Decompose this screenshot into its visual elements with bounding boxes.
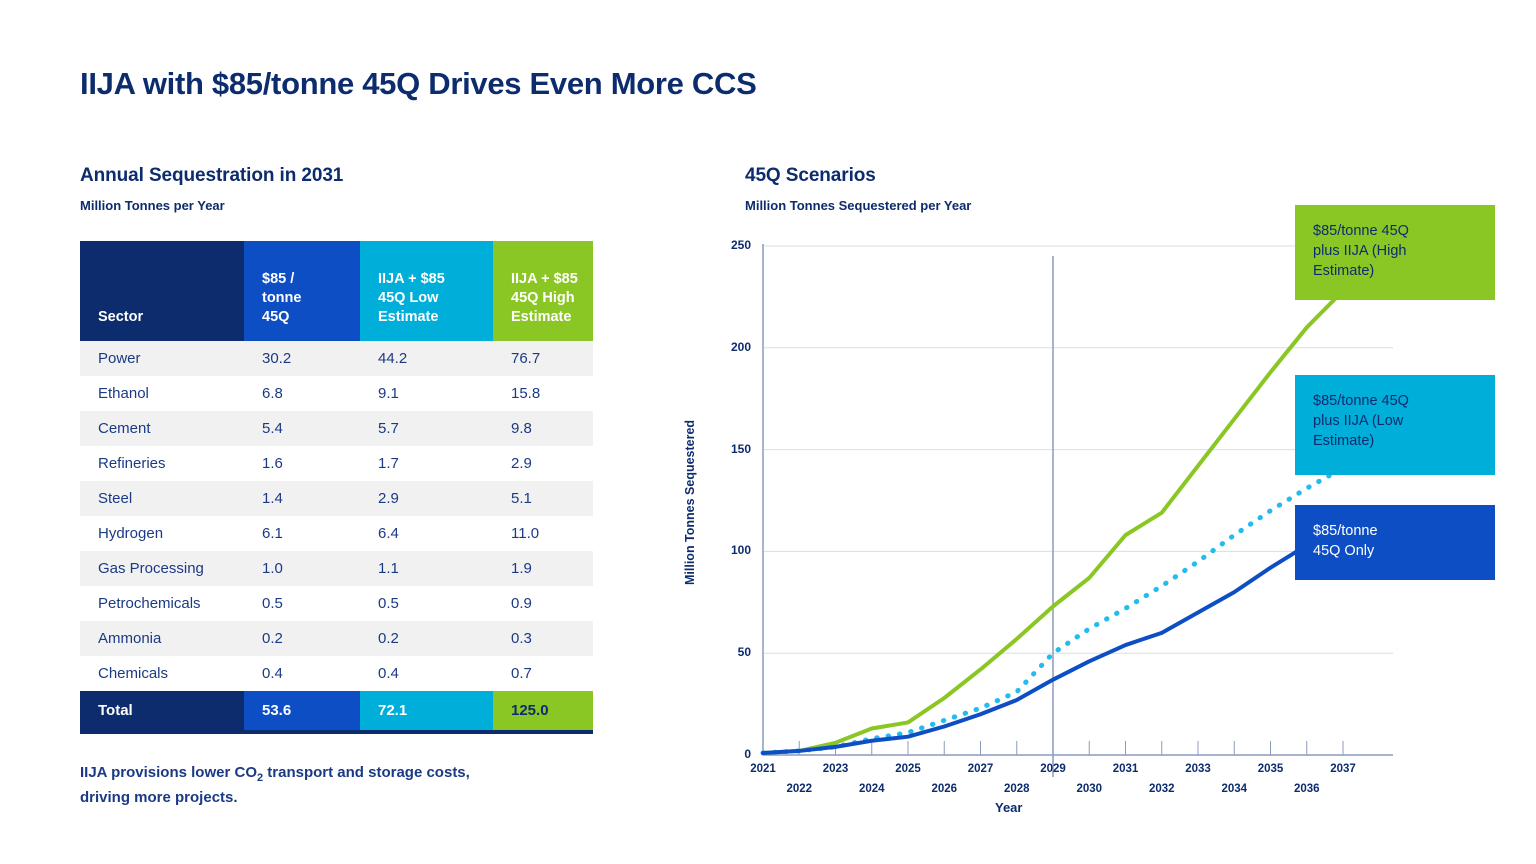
header-line: tonne	[262, 290, 301, 306]
header-line: 45Q	[262, 309, 289, 325]
x-tick-label: 2032	[1149, 783, 1175, 795]
table-row: Steel1.42.95.1	[80, 481, 593, 516]
cell-value: 0.9	[493, 586, 593, 621]
infographic-page: IIJA with $85/tonne 45Q Drives Even More…	[0, 0, 1536, 864]
cell-value: 0.4	[244, 656, 360, 691]
footnote-line-1: IIJA provisions lower CO2 transport and …	[80, 764, 470, 781]
y-tick-label: 100	[709, 543, 751, 557]
cell-sector: Gas Processing	[80, 551, 244, 586]
cell-sector: Petrochemicals	[80, 586, 244, 621]
cell-value: 0.4	[360, 656, 493, 691]
y-tick-label: 250	[709, 238, 751, 252]
line-chart: Million Tonnes Sequestered Year 05010015…	[695, 230, 1485, 850]
header-line: Sector	[98, 309, 143, 325]
column-header-iija-low: IIJA + $85 45Q Low Estimate	[360, 241, 493, 341]
column-header-iija-high: IIJA + $85 45Q High Estimate	[493, 241, 593, 341]
cell-value: 1.7	[360, 446, 493, 481]
cell-value: 6.4	[360, 516, 493, 551]
cell-value: 44.2	[360, 341, 493, 376]
x-tick-label: 2034	[1221, 783, 1247, 795]
x-tick-label: 2025	[895, 763, 921, 775]
cell-sector: Power	[80, 341, 244, 376]
header-line: 45Q High	[511, 290, 575, 306]
cell-value: 6.8	[244, 376, 360, 411]
x-tick-label: 2033	[1185, 763, 1211, 775]
x-axis-label: Year	[995, 800, 1022, 815]
x-tick-label: 2029	[1040, 763, 1066, 775]
header-line: $85 /	[262, 271, 294, 287]
cell-value: 0.2	[360, 621, 493, 656]
table-row: Gas Processing1.01.11.9	[80, 551, 593, 586]
table-row: Ethanol6.89.115.8	[80, 376, 593, 411]
cell-value: 76.7	[493, 341, 593, 376]
table-row: Petrochemicals0.50.50.9	[80, 586, 593, 621]
cell-value: 0.3	[493, 621, 593, 656]
x-tick-label: 2022	[786, 783, 812, 795]
table-bottom-rule	[80, 730, 593, 734]
cell-value: 1.4	[244, 481, 360, 516]
cell-sector: Ammonia	[80, 621, 244, 656]
x-tick-label: 2026	[931, 783, 957, 795]
cell-value: 0.5	[244, 586, 360, 621]
x-tick-label: 2031	[1113, 763, 1139, 775]
legend-line: $85/tonne 45Q	[1313, 391, 1477, 411]
table-body: Power30.244.276.7Ethanol6.89.115.8Cement…	[80, 341, 593, 730]
cell-sector: Cement	[80, 411, 244, 446]
footnote-line-2: driving more projects.	[80, 789, 238, 806]
cell-sector: Ethanol	[80, 376, 244, 411]
legend-line: $85/tonne 45Q	[1313, 221, 1477, 241]
cell-value: 0.7	[493, 656, 593, 691]
cell-value: 9.1	[360, 376, 493, 411]
table-total-row: Total53.672.1125.0	[80, 691, 593, 730]
table-row: Refineries1.61.72.9	[80, 446, 593, 481]
column-header-85-tonne-45q: $85 / tonne 45Q	[244, 241, 360, 341]
cell-value: 5.1	[493, 481, 593, 516]
x-tick-label: 2030	[1076, 783, 1102, 795]
x-tick-label: 2023	[823, 763, 849, 775]
y-tick-label: 150	[709, 442, 751, 456]
column-header-sector: Sector	[80, 241, 244, 341]
y-tick-label: 50	[709, 645, 751, 659]
left-panel-subtitle: Million Tonnes per Year	[80, 198, 595, 213]
cell-sector: Chemicals	[80, 656, 244, 691]
legend-line: 45Q Only	[1313, 541, 1477, 561]
table-row: Cement5.45.79.8	[80, 411, 593, 446]
cell-value: 1.0	[244, 551, 360, 586]
table-row: Chemicals0.40.40.7	[80, 656, 593, 691]
cell-sector: Refineries	[80, 446, 244, 481]
cell-value: 0.5	[360, 586, 493, 621]
header-line: Estimate	[378, 309, 438, 325]
header-line: IIJA + $85	[511, 271, 578, 287]
x-tick-label: 2037	[1330, 763, 1356, 775]
cell-value: 15.8	[493, 376, 593, 411]
cell-value: 1.9	[493, 551, 593, 586]
legend-line: $85/tonne	[1313, 521, 1477, 541]
y-axis-label: Million Tonnes Sequestered	[683, 420, 697, 585]
cell-total-value: 53.6	[244, 691, 360, 730]
legend-line: Estimate)	[1313, 261, 1477, 281]
cell-total-value: 72.1	[360, 691, 493, 730]
sequestration-table: Sector $85 / tonne 45Q IIJA + $85 45Q Lo…	[80, 241, 593, 730]
cell-value: 9.8	[493, 411, 593, 446]
cell-sector: Hydrogen	[80, 516, 244, 551]
table-header-row: Sector $85 / tonne 45Q IIJA + $85 45Q Lo…	[80, 241, 593, 341]
cell-value: 5.4	[244, 411, 360, 446]
cell-value: 11.0	[493, 516, 593, 551]
legend-line: plus IIJA (High	[1313, 241, 1477, 261]
y-tick-label: 200	[709, 340, 751, 354]
cell-total-value: 125.0	[493, 691, 593, 730]
cell-value: 30.2	[244, 341, 360, 376]
header-line: IIJA + $85	[378, 271, 445, 287]
x-tick-label: 2021	[750, 763, 776, 775]
cell-value: 2.9	[493, 446, 593, 481]
left-panel-title: Annual Sequestration in 2031	[80, 165, 595, 187]
page-title: IIJA with $85/tonne 45Q Drives Even More…	[80, 66, 756, 102]
x-tick-label: 2036	[1294, 783, 1320, 795]
x-tick-label: 2024	[859, 783, 885, 795]
cell-value: 5.7	[360, 411, 493, 446]
annual-sequestration-panel: Annual Sequestration in 2031 Million Ton…	[80, 165, 595, 809]
cell-value: 1.6	[244, 446, 360, 481]
header-line: 45Q Low	[378, 290, 438, 306]
legend-item-high: $85/tonne 45Qplus IIJA (HighEstimate)	[1295, 205, 1495, 300]
cell-sector: Steel	[80, 481, 244, 516]
table-row: Power30.244.276.7	[80, 341, 593, 376]
cell-value: 0.2	[244, 621, 360, 656]
x-tick-label: 2035	[1258, 763, 1284, 775]
table-row: Hydrogen6.16.411.0	[80, 516, 593, 551]
y-tick-label: 0	[709, 747, 751, 761]
cell-value: 1.1	[360, 551, 493, 586]
right-panel-title: 45Q Scenarios	[745, 165, 1485, 187]
cell-total-label: Total	[80, 691, 244, 730]
legend-line: plus IIJA (Low	[1313, 411, 1477, 431]
legend-item-only: $85/tonne45Q Only	[1295, 505, 1495, 580]
cell-value: 6.1	[244, 516, 360, 551]
header-line: Estimate	[511, 309, 571, 325]
legend-item-low: $85/tonne 45Qplus IIJA (LowEstimate)	[1295, 375, 1495, 475]
x-tick-label: 2027	[968, 763, 994, 775]
table-row: Ammonia0.20.20.3	[80, 621, 593, 656]
x-tick-label: 2028	[1004, 783, 1030, 795]
legend-line: Estimate)	[1313, 431, 1477, 451]
cell-value: 2.9	[360, 481, 493, 516]
footnote: IIJA provisions lower CO2 transport and …	[80, 762, 550, 809]
